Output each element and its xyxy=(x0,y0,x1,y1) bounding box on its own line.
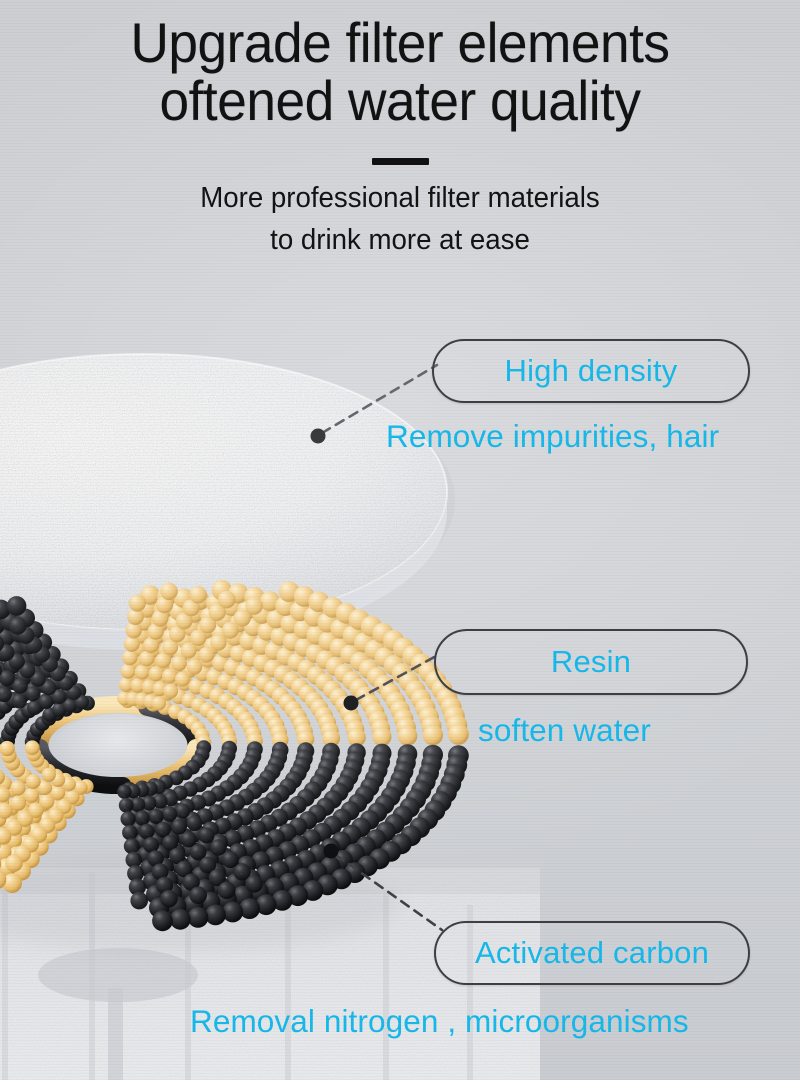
callout-caption-high-density: Remove impurities, hair xyxy=(386,418,719,455)
callout-caption-resin: soften water xyxy=(478,712,651,749)
product-infographic: Upgrade filter elements oftened water qu… xyxy=(0,0,800,1080)
carbon-bead xyxy=(12,678,28,694)
carbon-bead xyxy=(9,617,27,635)
carbon-bead xyxy=(162,807,177,822)
resin-bead xyxy=(171,655,187,671)
carbon-bead xyxy=(210,839,226,855)
carbon-bead xyxy=(222,851,239,868)
carbon-bead xyxy=(199,827,215,843)
carbon-bead xyxy=(135,810,150,825)
callout-pill-label: Resin xyxy=(551,644,631,680)
resin-bead xyxy=(210,634,226,650)
resin-bead xyxy=(398,726,418,746)
title-line-1: Upgrade filter elements xyxy=(130,11,669,74)
resin-bead xyxy=(187,659,203,675)
carbon-bead xyxy=(122,825,138,841)
marker-dot-high-density xyxy=(311,429,326,444)
resin-bead xyxy=(162,668,177,683)
carbon-bead xyxy=(124,838,140,854)
carbon-bead xyxy=(218,882,236,900)
carbon-bead xyxy=(39,694,54,709)
resin-bead xyxy=(5,854,23,872)
carbon-bead xyxy=(119,798,134,813)
marker-dot-activated-carbon xyxy=(324,844,339,859)
resin-bead xyxy=(10,781,25,796)
carbon-bead xyxy=(25,686,40,701)
resin-bead xyxy=(448,724,469,745)
resin-bead xyxy=(129,594,146,611)
resin-bead xyxy=(24,788,39,803)
page-subtitle: More professional filter materials to dr… xyxy=(12,164,788,260)
marker-dot-resin xyxy=(344,696,359,711)
resin-bead xyxy=(122,650,138,666)
page-title: Upgrade filter elements oftened water qu… xyxy=(20,0,780,130)
resin-bead xyxy=(121,664,136,679)
callout-pill-label: Activated carbon xyxy=(475,935,709,971)
carbon-bead xyxy=(160,890,178,908)
callout-pill-high-density[interactable]: High density xyxy=(432,339,750,403)
resin-bead xyxy=(175,671,190,686)
callout-caption-activated-carbon: Removal nitrogen , microorganisms xyxy=(190,1003,689,1040)
carbon-bead xyxy=(130,892,148,910)
carbon-bead xyxy=(7,596,27,616)
resin-bead xyxy=(423,725,443,745)
carbon-bead xyxy=(245,875,263,893)
resin-bead xyxy=(25,740,40,755)
callout-pill-activated-carbon[interactable]: Activated carbon xyxy=(434,921,750,985)
resin-bead xyxy=(189,586,207,604)
resin-bead xyxy=(26,774,41,789)
carbon-bead xyxy=(149,809,164,824)
carbon-bead xyxy=(189,887,207,905)
carbon-bead xyxy=(117,785,131,799)
carbon-bead xyxy=(171,819,187,835)
resin-bead xyxy=(10,795,26,811)
title-line-2: oftened water quality xyxy=(20,72,780,130)
resin-bead xyxy=(139,651,155,667)
resin-bead xyxy=(199,647,215,663)
resin-bead xyxy=(218,591,236,609)
carbon-bead xyxy=(152,910,173,931)
resin-bead xyxy=(149,666,164,681)
resin-bead xyxy=(222,622,239,639)
resin-bead xyxy=(42,768,56,782)
resin-bead xyxy=(160,583,178,601)
subtitle-line-1: More professional filter materials xyxy=(200,182,599,214)
carbon-bead xyxy=(139,824,155,840)
resin-bead xyxy=(245,597,263,615)
callout-pill-label: High density xyxy=(505,353,678,389)
resin-bead xyxy=(124,636,140,652)
header-block: Upgrade filter elements oftened water qu… xyxy=(0,0,800,261)
resin-bead xyxy=(0,741,15,756)
carbon-bead xyxy=(170,909,191,930)
resin-bead xyxy=(135,664,150,679)
title-divider-wrap xyxy=(0,152,800,164)
resin-bead xyxy=(163,684,178,699)
carbon-bead xyxy=(205,905,226,926)
carbon-bead xyxy=(12,693,27,708)
subtitle-line-2: to drink more at ease xyxy=(12,220,788,261)
carbon-bead xyxy=(188,907,209,928)
resin-bead xyxy=(152,696,166,710)
carbon-bead xyxy=(175,803,190,818)
carbon-bead xyxy=(121,811,136,826)
resin-bead xyxy=(373,727,392,746)
carbon-bead xyxy=(187,815,203,831)
callout-pill-resin[interactable]: Resin xyxy=(434,629,748,695)
